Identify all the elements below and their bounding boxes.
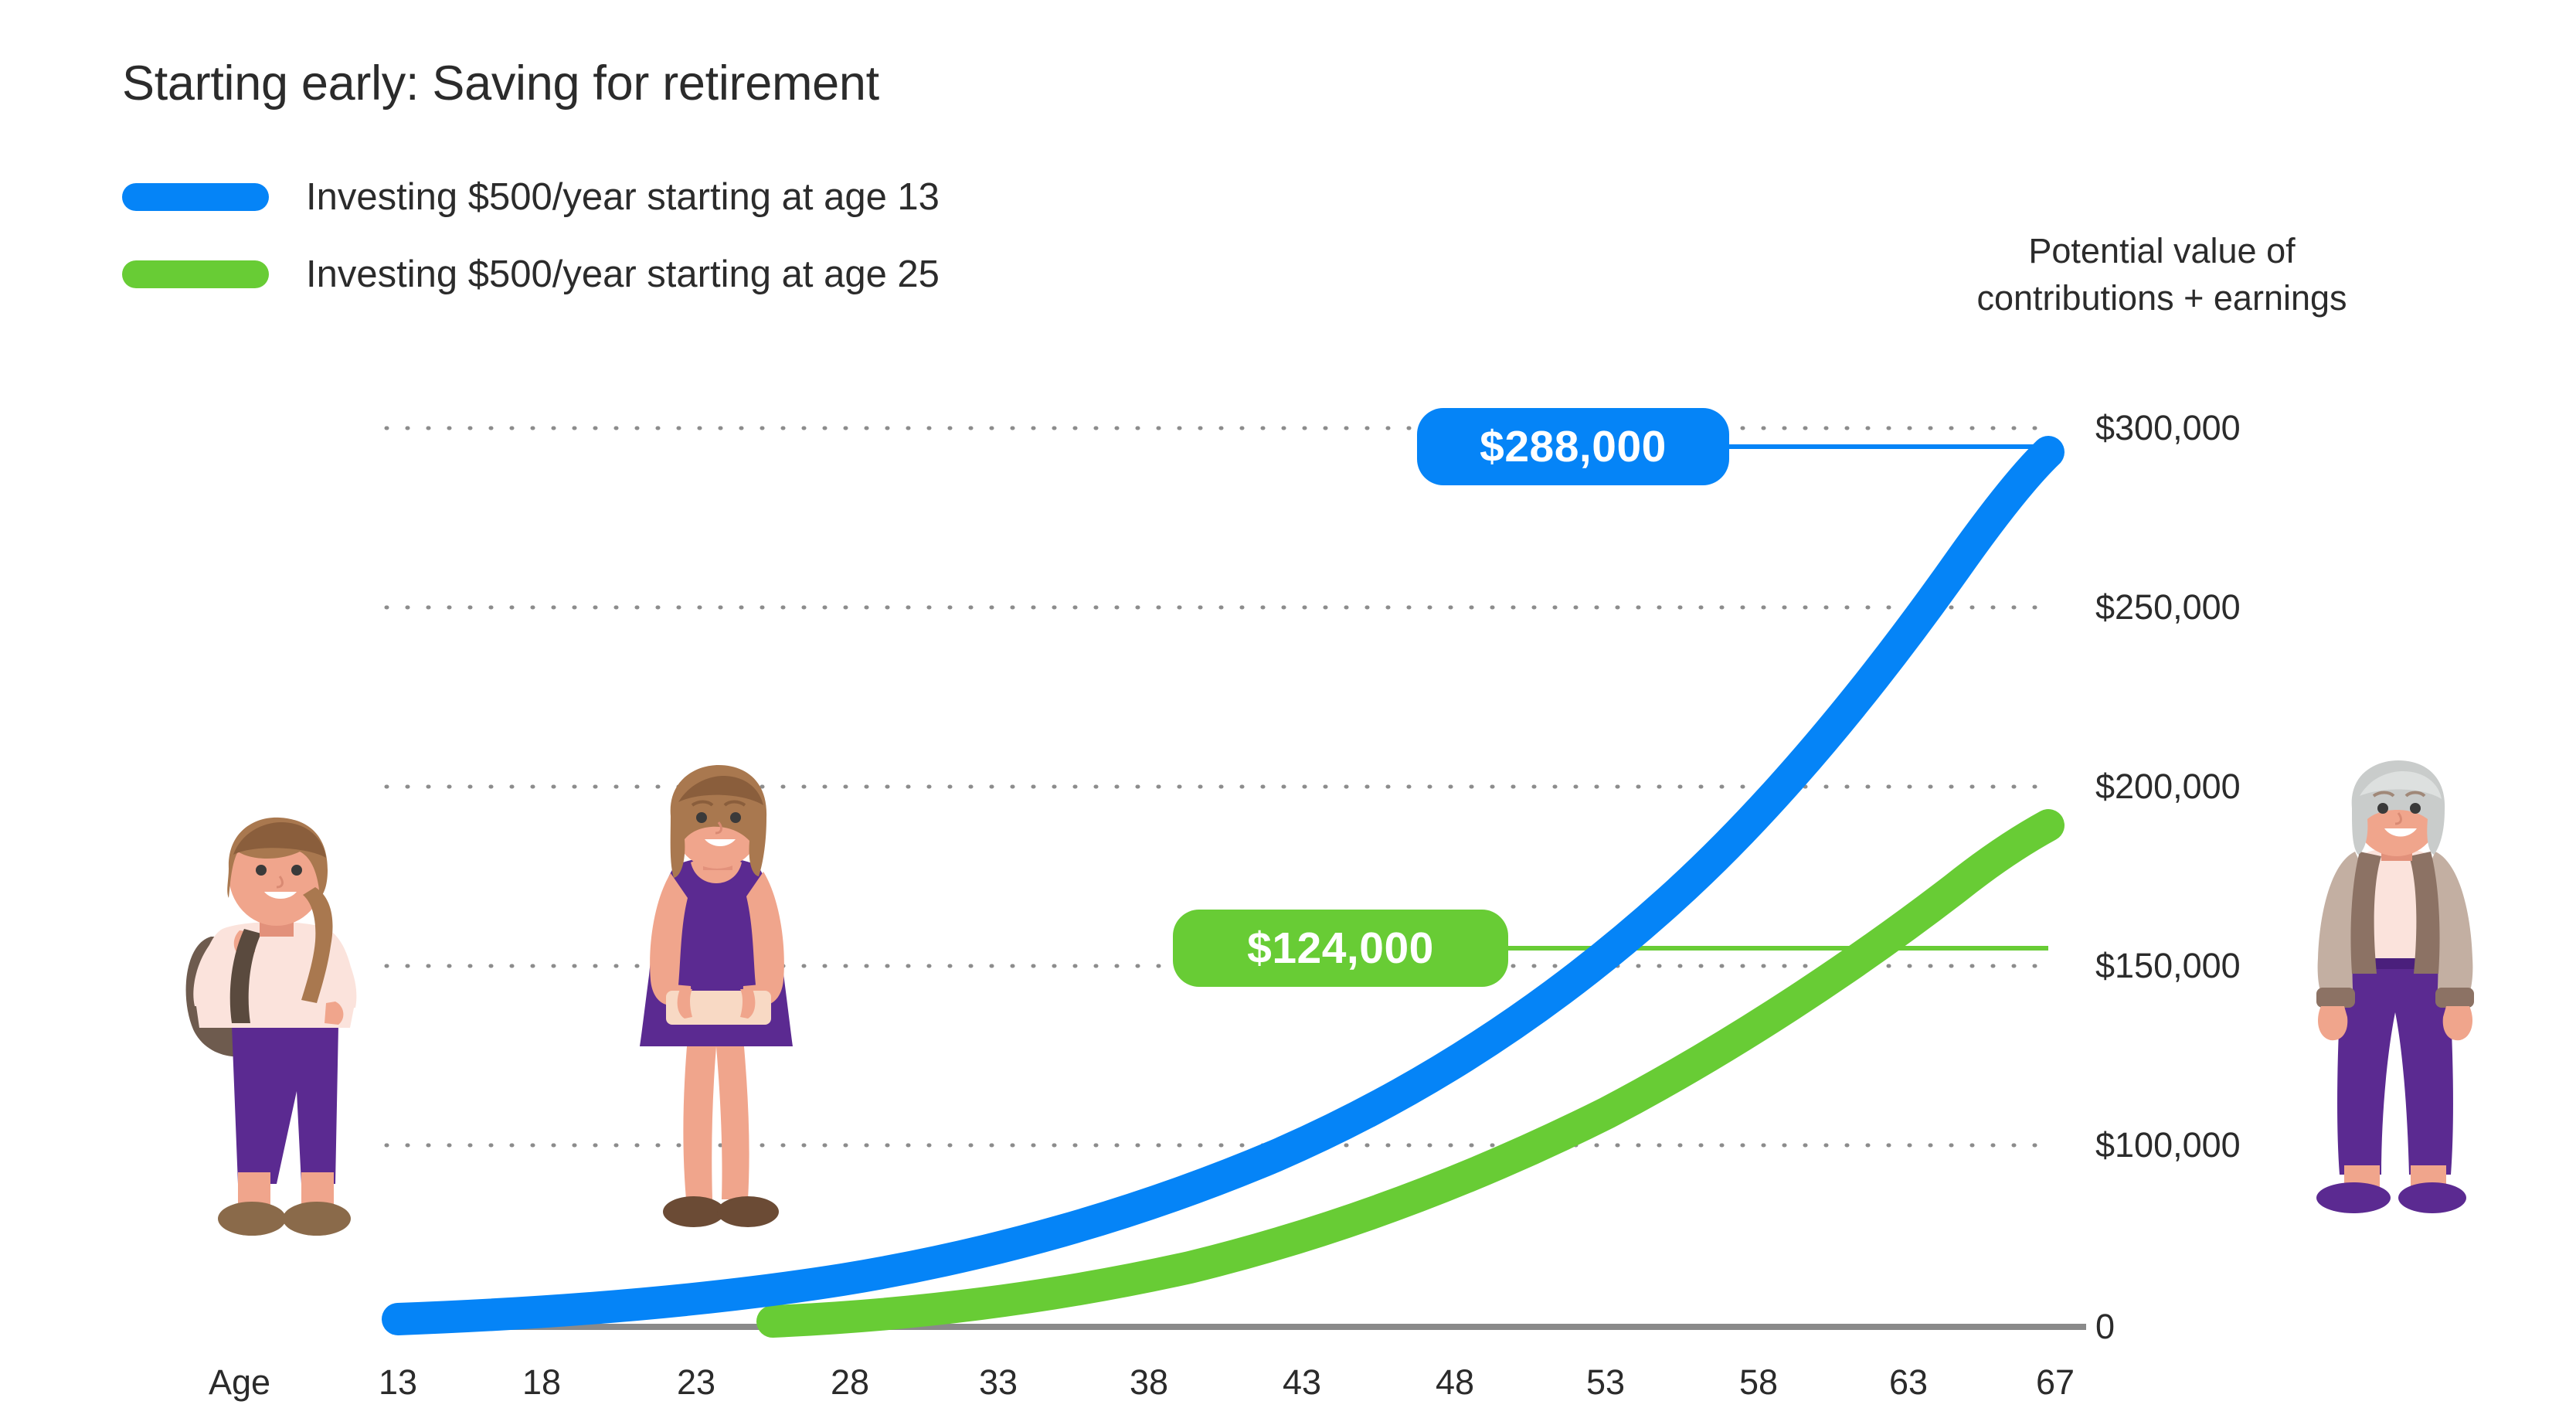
teen-shoe-right	[283, 1202, 351, 1236]
senior-cuff-left	[2316, 988, 2355, 1008]
illustration-teen-with-backpack	[186, 818, 357, 1236]
senior-eye-right	[2410, 803, 2421, 814]
x-tick-48: 48	[1436, 1362, 1474, 1403]
x-tick-13: 13	[379, 1362, 417, 1403]
infographic-root: Starting early: Saving for retirement In…	[0, 0, 2576, 1425]
woman-eye-right	[730, 812, 741, 823]
x-tick-58: 58	[1739, 1362, 1778, 1403]
y-tick-250000: $250,000	[2095, 587, 2241, 627]
teen-pants	[232, 1025, 338, 1184]
senior-cuff-right	[2435, 988, 2474, 1008]
callout-badge-124000[interactable]: $124,000	[1173, 910, 1508, 987]
illustration-senior-woman	[2316, 760, 2474, 1213]
senior-eye-left	[2377, 803, 2388, 814]
senior-hand-right	[2443, 1006, 2472, 1040]
y-tick-150000: $150,000	[2095, 946, 2241, 986]
senior-shoe-right	[2398, 1182, 2466, 1213]
x-tick-38: 38	[1130, 1362, 1168, 1403]
senior-hand-left	[2318, 1006, 2347, 1040]
x-tick-33: 33	[979, 1362, 1018, 1403]
y-tick-300000: $300,000	[2095, 408, 2241, 448]
woman-shoe-right	[717, 1196, 779, 1227]
x-tick-53: 53	[1586, 1362, 1625, 1403]
y-tick-0: 0	[2095, 1307, 2115, 1347]
senior-shoe-left	[2316, 1182, 2391, 1213]
woman-leg-left	[683, 1037, 717, 1199]
woman-shoe-left	[663, 1196, 725, 1227]
y-tick-200000: $200,000	[2095, 767, 2241, 807]
woman-eye-left	[696, 812, 707, 823]
teen-shoe-left	[218, 1202, 286, 1236]
senior-pants	[2337, 958, 2453, 1175]
teen-eye-right	[291, 865, 302, 876]
x-tick-23: 23	[677, 1362, 715, 1403]
gridlines	[386, 428, 2055, 1145]
x-tick-63: 63	[1889, 1362, 1928, 1403]
x-tick-18: 18	[522, 1362, 561, 1403]
callout-badge-288000[interactable]: $288,000	[1417, 408, 1729, 485]
curve-age-13	[398, 452, 2048, 1319]
chart-plot-area	[0, 0, 2576, 1425]
x-tick-28: 28	[831, 1362, 869, 1403]
woman-leg-right	[715, 1037, 749, 1199]
x-tick-67: 67	[2036, 1362, 2075, 1403]
teen-eye-left	[256, 865, 267, 876]
illustration-young-woman	[640, 765, 793, 1227]
x-axis-name: Age	[209, 1362, 270, 1403]
y-tick-100000: $100,000	[2095, 1125, 2241, 1165]
x-tick-43: 43	[1283, 1362, 1321, 1403]
